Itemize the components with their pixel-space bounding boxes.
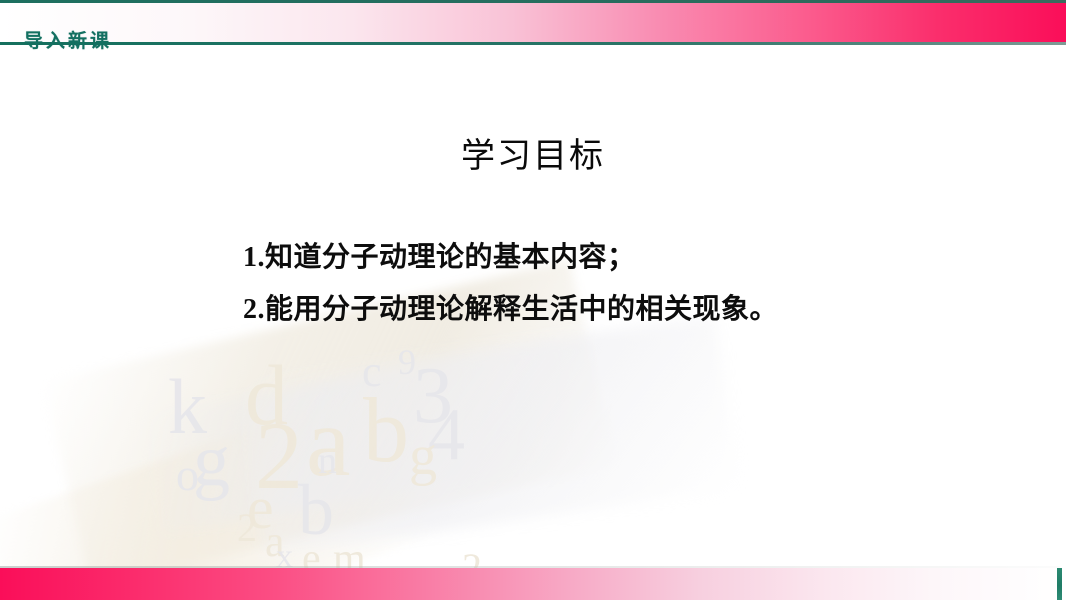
- page-title: 学习目标: [0, 128, 1066, 177]
- watermark-glyph: e: [247, 478, 274, 538]
- top-gradient-bar: [0, 3, 1066, 42]
- watermark-glyph: n: [318, 442, 337, 480]
- watermark-glyph: 9: [398, 344, 416, 380]
- watermark-glyph: 3: [413, 356, 453, 436]
- list-item: 2.能用分子动理论解释生活中的相关现象。: [243, 284, 963, 336]
- watermark-glyph: b: [363, 384, 409, 476]
- slide-canvas: kdgo2ab34gneb2axem2c9 导入新课 学习目标 1.知道分子动理…: [0, 0, 1066, 600]
- background-book-shape-c: [143, 342, 577, 533]
- watermark-glyph: c: [362, 350, 382, 394]
- list-item: 1.知道分子动理论的基本内容；: [243, 232, 963, 284]
- watermark-glyph: g: [193, 424, 230, 498]
- watermark-glyph: g: [409, 428, 437, 484]
- header-divider-rule: [0, 42, 1066, 45]
- background-book-shape-d: [240, 315, 740, 555]
- watermark-glyph: a: [306, 392, 350, 492]
- section-label: 导入新课: [24, 26, 112, 53]
- watermark-glyph: o: [176, 452, 199, 498]
- watermark-glyph: k: [168, 368, 207, 446]
- watermark-glyph: b: [298, 474, 334, 546]
- objective-list: 1.知道分子动理论的基本内容； 2.能用分子动理论解释生活中的相关现象。: [243, 232, 963, 336]
- watermark-glyph: a: [265, 520, 285, 564]
- watermark-glyph: 2: [237, 508, 257, 548]
- watermark-glyph: 2: [255, 408, 303, 504]
- bottom-gradient-bar: [0, 568, 1060, 600]
- watermark-glyph: 4: [428, 398, 465, 472]
- watermark-glyph: d: [245, 352, 288, 438]
- bottom-green-tab: [1057, 568, 1062, 600]
